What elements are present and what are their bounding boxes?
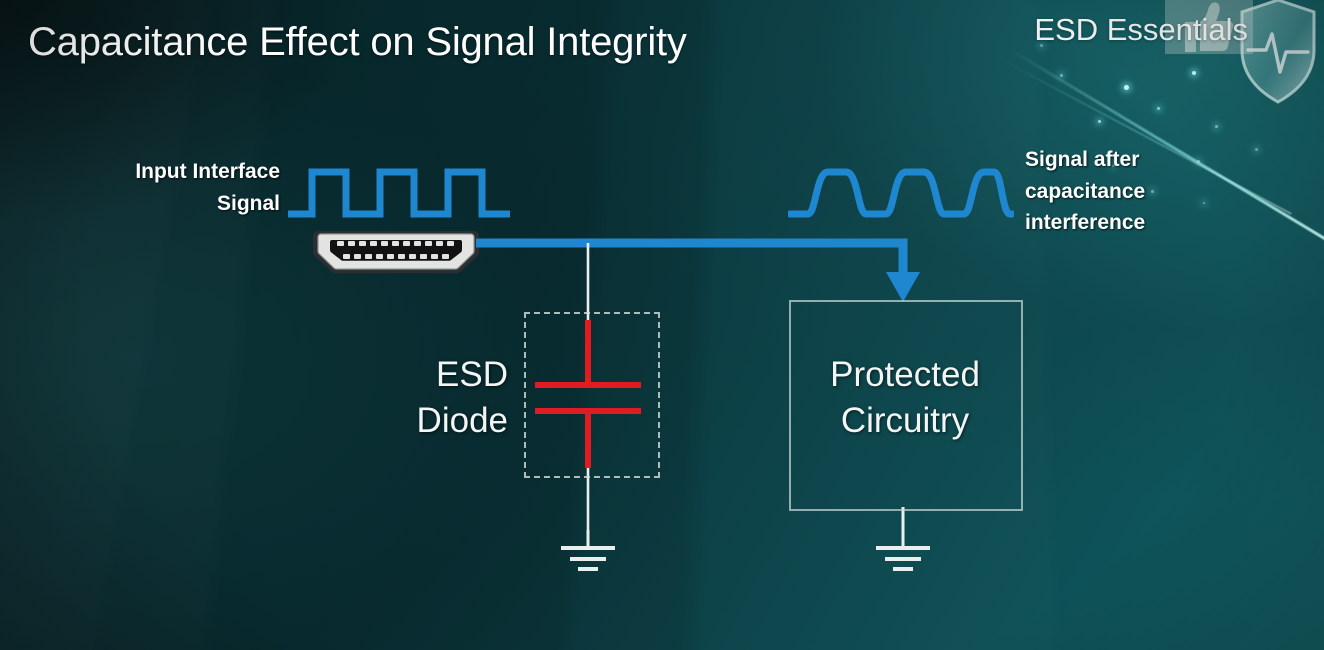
brand-label: ESD Essentials [1034,12,1248,48]
particle-dot [1215,125,1218,128]
output-signal-callout-line1: Signal after [1025,144,1275,176]
input-signal-callout-line2: Signal [60,188,280,220]
output-signal-callout-line2: capacitance [1025,176,1275,208]
particle-dot [1157,107,1160,110]
particle-dot [1192,71,1196,75]
esd-diode-label-line2: Diode [378,398,508,444]
esd-diode-label: ESD Diode [378,352,508,444]
background-texture [0,0,1324,650]
circuit-wiring [0,0,1324,650]
esd-shield-logo [1236,0,1320,108]
particle-dot [1124,85,1129,90]
protected-circuitry-label-line1: Protected [790,352,1020,398]
esd-diode-dashed-region [524,312,660,478]
output-signal-callout: Signal after capacitance interference [1025,144,1275,239]
vignette-overlay [0,0,1324,650]
output-degraded-wave [788,160,1014,224]
esd-diode-label-line1: ESD [378,352,508,398]
protected-circuitry-label: Protected Circuitry [790,352,1020,444]
input-signal-callout: Input Interface Signal [60,156,280,219]
input-square-wave [286,160,512,224]
output-signal-callout-line3: interference [1025,207,1275,239]
particle-dot [1060,74,1063,77]
input-signal-callout-line1: Input Interface [60,156,280,188]
slide-canvas: Capacitance Effect on Signal Integrity E… [0,0,1324,650]
particle-dot [1098,120,1101,123]
protected-circuitry-label-line2: Circuitry [790,398,1020,444]
signal-arrowhead [886,272,920,302]
page-title: Capacitance Effect on Signal Integrity [28,20,687,65]
hdmi-connector [310,228,482,276]
signal-trace [476,243,903,275]
